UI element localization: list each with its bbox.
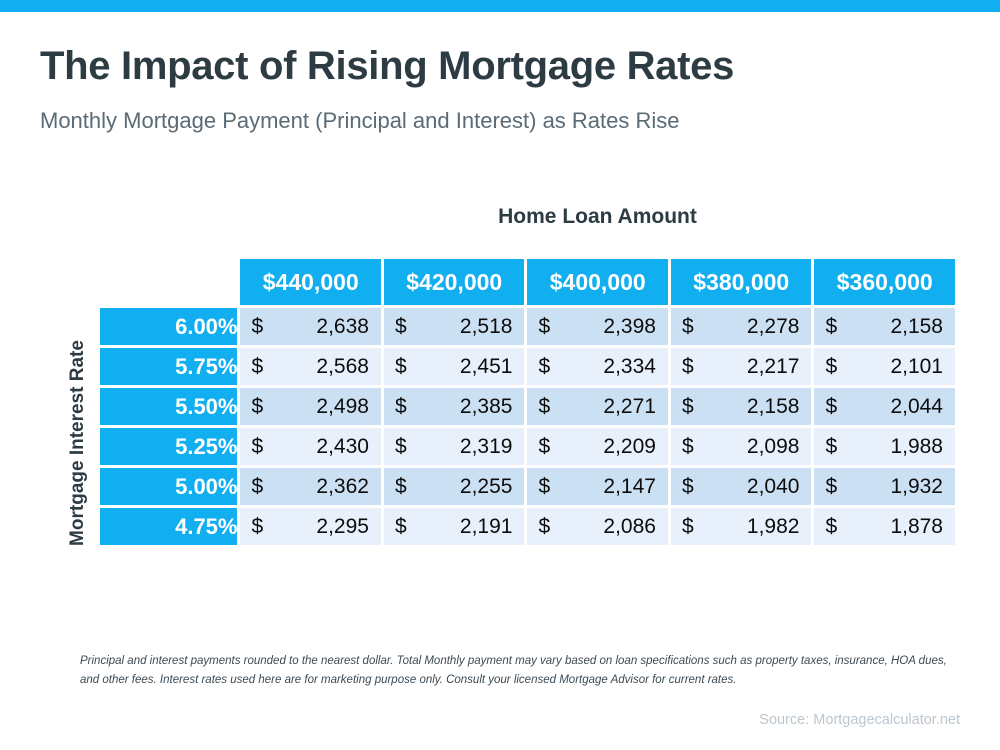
page-title: The Impact of Rising Mortgage Rates [40,44,734,89]
payment-cell: $2,518 [384,308,525,345]
table-row: 5.75%$2,568$2,451$2,334$2,217$2,101 [100,348,955,385]
payment-amount: 1,878 [890,515,943,539]
column-axis-title: Home Loan Amount [237,205,958,229]
table-body: 6.00%$2,638$2,518$2,398$2,278$2,1585.75%… [100,308,955,545]
payment-cell: $2,334 [527,348,668,385]
payment-amount: 2,385 [460,395,513,419]
row-header-interest-rate: 5.25% [100,428,237,465]
row-header-interest-rate: 6.00% [100,308,237,345]
payment-amount: 2,271 [603,395,656,419]
payment-amount: 2,098 [747,435,800,459]
payment-cell: $2,398 [527,308,668,345]
table-row: 5.50%$2,498$2,385$2,271$2,158$2,044 [100,388,955,425]
payment-amount: 2,044 [890,395,943,419]
payment-cell: $2,101 [814,348,955,385]
payment-cell: $2,098 [671,428,812,465]
column-header-loan-amount: $360,000 [814,259,955,305]
payment-cell: $2,271 [527,388,668,425]
table-row: 5.00%$2,362$2,255$2,147$2,040$1,932 [100,468,955,505]
payment-cell: $2,217 [671,348,812,385]
payment-cell: $2,295 [240,508,381,545]
payment-cell: $2,319 [384,428,525,465]
row-header-interest-rate: 4.75% [100,508,237,545]
payment-amount: 2,101 [890,355,943,379]
currency-symbol: $ [395,435,407,459]
payment-amount: 2,638 [316,315,369,339]
mortgage-rate-table: $440,000$420,000$400,000$380,000$360,000… [97,256,958,548]
currency-symbol: $ [251,475,263,499]
payment-cell: $2,191 [384,508,525,545]
currency-symbol: $ [682,355,694,379]
payment-cell: $2,430 [240,428,381,465]
currency-symbol: $ [395,515,407,539]
payment-cell: $2,638 [240,308,381,345]
payment-amount: 2,362 [316,475,369,499]
row-header-interest-rate: 5.50% [100,388,237,425]
currency-symbol: $ [682,395,694,419]
currency-symbol: $ [251,515,263,539]
payment-amount: 1,988 [890,435,943,459]
row-header-interest-rate: 5.00% [100,468,237,505]
payment-cell: $2,147 [527,468,668,505]
currency-symbol: $ [825,315,837,339]
payment-amount: 2,147 [603,475,656,499]
payment-cell: $2,451 [384,348,525,385]
rate-table-container: $440,000$420,000$400,000$380,000$360,000… [97,256,958,548]
payment-cell: $2,385 [384,388,525,425]
disclaimer-text: Principal and interest payments rounded … [80,652,950,690]
row-axis-title: Mortgage Interest Rate [67,303,89,583]
currency-symbol: $ [825,435,837,459]
payment-cell: $1,932 [814,468,955,505]
column-header-loan-amount: $440,000 [240,259,381,305]
page-subtitle: Monthly Mortgage Payment (Principal and … [40,108,680,134]
payment-cell: $2,498 [240,388,381,425]
payment-amount: 2,398 [603,315,656,339]
payment-amount: 2,295 [316,515,369,539]
payment-cell: $2,158 [671,388,812,425]
currency-symbol: $ [251,395,263,419]
currency-symbol: $ [682,315,694,339]
currency-symbol: $ [538,315,550,339]
payment-amount: 2,451 [460,355,513,379]
payment-cell: $2,255 [384,468,525,505]
payment-cell: $2,278 [671,308,812,345]
currency-symbol: $ [682,435,694,459]
table-row: 4.75%$2,295$2,191$2,086$1,982$1,878 [100,508,955,545]
payment-amount: 2,158 [890,315,943,339]
currency-symbol: $ [538,395,550,419]
payment-amount: 2,334 [603,355,656,379]
payment-amount: 2,430 [316,435,369,459]
row-header-interest-rate: 5.75% [100,348,237,385]
column-header-loan-amount: $380,000 [671,259,812,305]
column-header-loan-amount: $400,000 [527,259,668,305]
payment-amount: 2,158 [747,395,800,419]
payment-cell: $2,209 [527,428,668,465]
payment-cell: $2,158 [814,308,955,345]
payment-amount: 1,982 [747,515,800,539]
currency-symbol: $ [538,435,550,459]
payment-amount: 2,278 [747,315,800,339]
currency-symbol: $ [251,315,263,339]
payment-amount: 2,217 [747,355,800,379]
payment-amount: 2,518 [460,315,513,339]
currency-symbol: $ [538,355,550,379]
currency-symbol: $ [395,355,407,379]
payment-cell: $2,362 [240,468,381,505]
table-row: 6.00%$2,638$2,518$2,398$2,278$2,158 [100,308,955,345]
payment-amount: 2,191 [460,515,513,539]
currency-symbol: $ [682,515,694,539]
payment-cell: $1,982 [671,508,812,545]
payment-amount: 2,086 [603,515,656,539]
currency-symbol: $ [538,475,550,499]
payment-cell: $2,568 [240,348,381,385]
top-accent-bar [0,0,1000,12]
currency-symbol: $ [251,355,263,379]
currency-symbol: $ [825,515,837,539]
payment-amount: 2,568 [316,355,369,379]
payment-amount: 2,319 [460,435,513,459]
table-corner-cell [100,259,237,305]
currency-symbol: $ [395,475,407,499]
payment-amount: 2,498 [316,395,369,419]
payment-amount: 2,209 [603,435,656,459]
table-header-row: $440,000$420,000$400,000$380,000$360,000 [100,259,955,305]
column-header-loan-amount: $420,000 [384,259,525,305]
currency-symbol: $ [395,315,407,339]
source-attribution: Source: Mortgagecalculator.net [0,712,960,728]
currency-symbol: $ [395,395,407,419]
currency-symbol: $ [538,515,550,539]
currency-symbol: $ [825,355,837,379]
payment-cell: $2,040 [671,468,812,505]
currency-symbol: $ [682,475,694,499]
payment-cell: $1,988 [814,428,955,465]
table-row: 5.25%$2,430$2,319$2,209$2,098$1,988 [100,428,955,465]
currency-symbol: $ [825,475,837,499]
payment-cell: $2,044 [814,388,955,425]
payment-cell: $1,878 [814,508,955,545]
currency-symbol: $ [251,435,263,459]
table-header: $440,000$420,000$400,000$380,000$360,000 [100,259,955,305]
payment-amount: 2,040 [747,475,800,499]
currency-symbol: $ [825,395,837,419]
payment-amount: 1,932 [890,475,943,499]
payment-amount: 2,255 [460,475,513,499]
payment-cell: $2,086 [527,508,668,545]
